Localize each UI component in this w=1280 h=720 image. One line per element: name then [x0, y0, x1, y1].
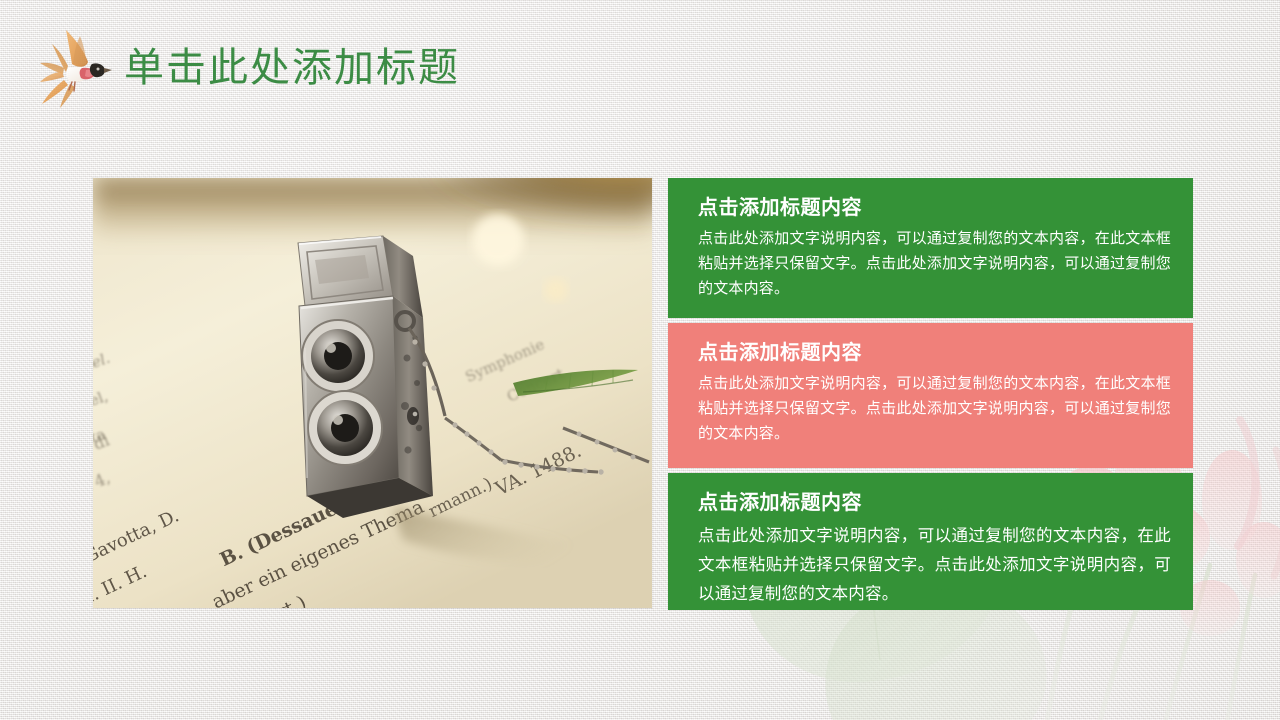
slide-canvas: 单击此处添加标题 — [0, 0, 1280, 720]
page-title: 单击此处添加标题 — [124, 43, 460, 93]
panel-1-title: 点击添加标题内容 — [698, 192, 1171, 222]
camera-pendant-photo[interactable]: Hummel. Hummel, Gavotta so di ei 4, B. (… — [93, 178, 652, 608]
slide-header: 单击此处添加标题 — [0, 0, 1280, 135]
content-panel-1[interactable]: 点击添加标题内容 点击此处添加文字说明内容，可以通过复制您的文本内容，在此文本框… — [668, 178, 1193, 318]
panel-1-body: 点击此处添加文字说明内容，可以通过复制您的文本内容，在此文本框粘贴并选择只保留文… — [698, 226, 1171, 301]
content-panel-3[interactable]: 点击添加标题内容 点击此处添加文字说明内容，可以通过复制您的文本内容，在此文本框… — [668, 473, 1193, 610]
content-panel-list: 点击添加标题内容 点击此处添加文字说明内容，可以通过复制您的文本内容，在此文本框… — [668, 178, 1193, 615]
swallow-bird-icon — [28, 24, 120, 110]
panel-3-title: 点击添加标题内容 — [698, 487, 1171, 517]
panel-2-title: 点击添加标题内容 — [698, 337, 1171, 367]
panel-2-body: 点击此处添加文字说明内容，可以通过复制您的文本内容，在此文本框粘贴并选择只保留文… — [698, 371, 1171, 446]
panel-3-body: 点击此处添加文字说明内容，可以通过复制您的文本内容，在此文本框粘贴并选择只保留文… — [698, 521, 1171, 608]
content-panel-2[interactable]: 点击添加标题内容 点击此处添加文字说明内容，可以通过复制您的文本内容，在此文本框… — [668, 323, 1193, 468]
